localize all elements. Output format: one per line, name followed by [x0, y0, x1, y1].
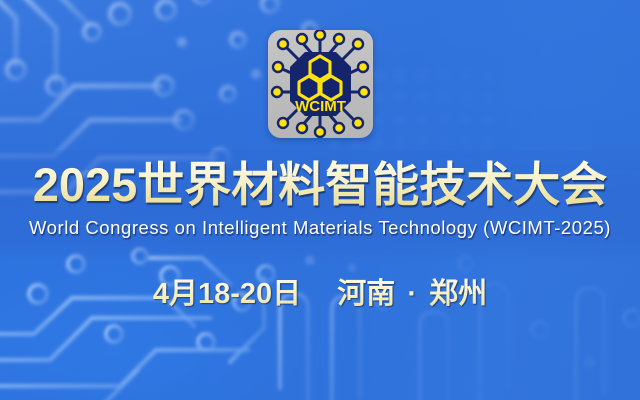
event-city: 郑州 [429, 278, 487, 310]
page-title-chinese: 2025世界材料智能技术大会 [0, 160, 640, 210]
logo-chip-card: WCIMT [268, 30, 373, 138]
event-date: 4月18-20日 [153, 278, 301, 310]
logo-acronym: WCIMT [295, 98, 346, 115]
event-province: 河南 [337, 278, 395, 310]
wcimt-logo: WCIMT [268, 30, 373, 138]
conference-poster: WCIMT 2025世界材料智能技术大会 World Congress on I… [0, 0, 640, 400]
event-meta-line: 4月18-20日 河南 · 郑州 [0, 276, 640, 312]
meta-separator: · [403, 278, 421, 310]
page-title-english: World Congress on Intelligent Materials … [0, 216, 640, 240]
